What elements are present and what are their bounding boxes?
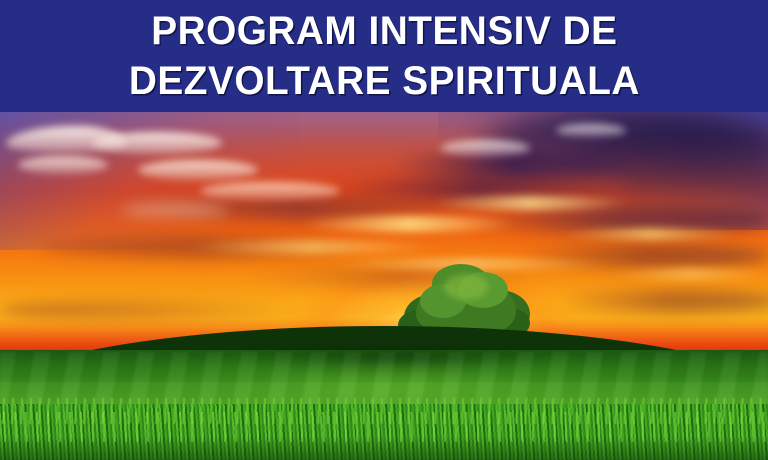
cloud-white-7 — [440, 140, 530, 156]
cloud-goldlit-1 — [300, 216, 520, 232]
cloud-white-8 — [556, 124, 626, 137]
cloud-white-4 — [138, 160, 258, 180]
cloud-streak-i — [0, 300, 300, 320]
cloud-white-5 — [200, 182, 340, 200]
grass-bottom-shadow — [0, 436, 768, 460]
title-line-1: PROGRAM INTENSIV DE — [151, 6, 617, 56]
poster-graphic: PROGRAM INTENSIV DE DEZVOLTARE SPIRITUAL… — [0, 0, 768, 460]
cloud-goldlit-6 — [610, 268, 768, 280]
cloud-white-3 — [18, 156, 108, 174]
title-line-2: DEZVOLTARE SPIRITUALA — [128, 56, 639, 106]
cloud-goldlit-3 — [180, 240, 440, 254]
cloud-white-2 — [92, 132, 222, 154]
cloud-streak-h — [560, 290, 768, 312]
title-banner: PROGRAM INTENSIV DE DEZVOLTARE SPIRITUAL… — [0, 0, 768, 112]
cloud-goldlit-2 — [430, 196, 630, 210]
tree-canopy-highlight — [444, 274, 488, 300]
cloud-goldlit-4 — [560, 228, 740, 240]
cloud-white-6 — [120, 204, 230, 218]
